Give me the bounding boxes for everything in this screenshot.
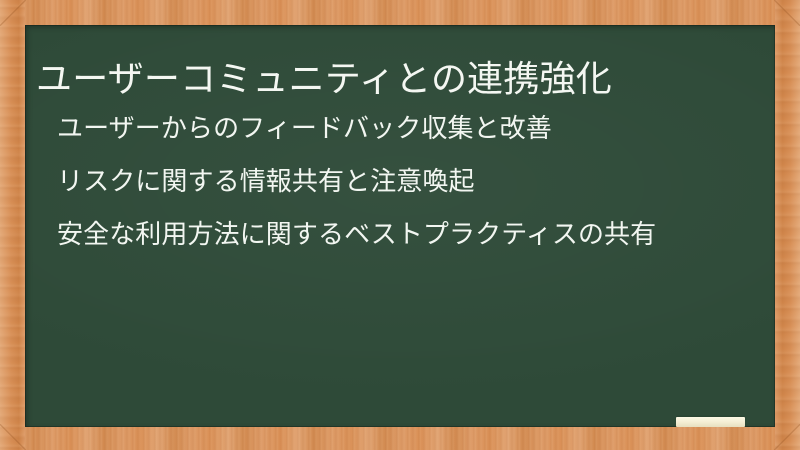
bullet-item-1: ユーザーからのフィードバック収集と改善 (57, 109, 757, 147)
frame-right-rail (775, 0, 800, 450)
chalkboard-content: ユーザーコミュニティとの連携強化 ユーザーからのフィードバック収集と改善 リスク… (25, 25, 775, 427)
bullet-item-3: 安全な利用方法に関するベストプラクティスの共有 (57, 215, 739, 253)
bullet-list: ユーザーからのフィードバック収集と改善 リスクに関する情報共有と注意喚起 安全な… (57, 109, 757, 253)
chalk-stick-icon (676, 417, 745, 427)
slide-title: ユーザーコミュニティとの連携強化 (36, 57, 762, 101)
bullet-item-2: リスクに関する情報共有と注意喚起 (57, 162, 757, 200)
chalkboard-slide: ユーザーコミュニティとの連携強化 ユーザーからのフィードバック収集と改善 リスク… (0, 0, 800, 450)
chalkboard-surface: ユーザーコミュニティとの連携強化 ユーザーからのフィードバック収集と改善 リスク… (25, 25, 775, 427)
frame-left-rail (0, 0, 25, 450)
